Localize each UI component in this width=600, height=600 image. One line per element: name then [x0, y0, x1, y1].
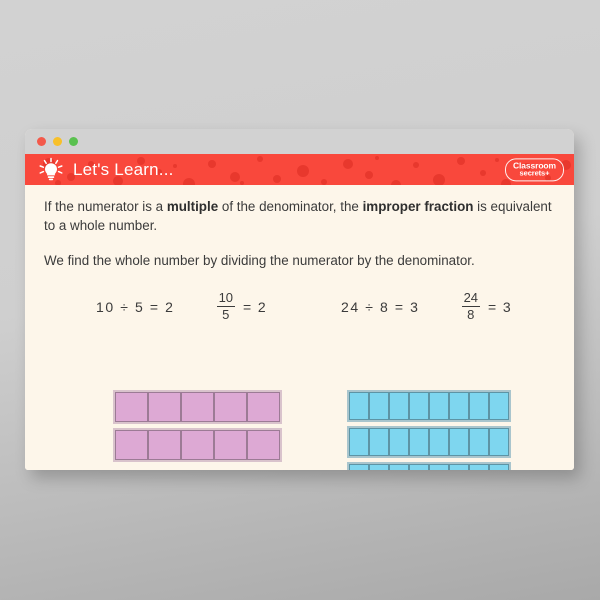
banner-decorative-dot: [183, 178, 195, 185]
bar-model-cell: [369, 428, 389, 456]
bar-model-cell: [181, 392, 214, 422]
bar-model-cell: [115, 392, 148, 422]
bar-model-cell: [389, 428, 409, 456]
banner-decorative-dot: [365, 171, 373, 179]
right-division-equation: 24 ÷ 8 = 3: [341, 299, 420, 315]
explanation-paragraph-2: We find the whole number by dividing the…: [44, 252, 552, 271]
bar-model-cell: [469, 428, 489, 456]
banner-decorative-dot: [208, 160, 216, 168]
equations-row: 10 ÷ 5 = 2 10 5 = 2 24 ÷ 8 = 3 24: [44, 291, 552, 335]
left-division-equation: 10 ÷ 5 = 2: [96, 299, 175, 315]
bar-model-cell: [429, 392, 449, 420]
slide-content: If the numerator is a multiple of the de…: [25, 185, 574, 470]
right-fraction-numerator: 24: [462, 291, 480, 306]
bar-model-cell: [247, 392, 280, 422]
paragraph1-part2: of the denominator, the: [218, 199, 362, 214]
banner-decorative-dot: [457, 157, 465, 165]
left-fraction-numerator: 10: [217, 291, 235, 306]
bar-model-cell: [148, 392, 181, 422]
right-fraction: 24 8: [462, 291, 480, 323]
left-example-equations: 10 ÷ 5 = 2 10 5 = 2: [96, 291, 267, 323]
logo-line-2: secrets+: [513, 170, 556, 178]
bar-model-cell: [349, 428, 369, 456]
bar-model-cell: [369, 392, 389, 420]
banner-decorative-dot: [480, 170, 486, 176]
right-fraction-equation: 24 8 = 3: [462, 291, 513, 323]
bar-model-cell: [389, 392, 409, 420]
paragraph1-part1: If the numerator is a: [44, 199, 167, 214]
bar-model-cell: [409, 428, 429, 456]
bar-model-cell: [349, 392, 369, 420]
banner-title: Let's Learn...: [73, 160, 174, 180]
bar-model-cell: [489, 464, 509, 470]
banner-decorative-dot: [297, 165, 309, 177]
explanation-paragraph-1: If the numerator is a multiple of the de…: [44, 198, 552, 235]
right-fraction-result: = 3: [488, 299, 512, 315]
left-fraction-result: = 2: [243, 299, 267, 315]
right-example-equations: 24 ÷ 8 = 3 24 8 = 3: [341, 291, 512, 323]
bar-model-row: [113, 390, 282, 424]
left-fraction-denominator: 5: [220, 308, 231, 323]
bar-model-cell: [489, 392, 509, 420]
bar-model-cell: [181, 430, 214, 460]
bar-model-cell: [489, 428, 509, 456]
bar-model-row: [347, 462, 511, 470]
bar-model-cell: [214, 430, 247, 460]
bar-model-cell: [469, 464, 489, 470]
bar-model-cell: [214, 392, 247, 422]
paragraph1-bold-multiple: multiple: [167, 199, 218, 214]
banner-decorative-dot: [343, 159, 353, 169]
banner-decorative-dot: [273, 175, 281, 183]
bar-model-row: [113, 428, 282, 462]
bar-model-cell: [469, 392, 489, 420]
banner-decorative-dot: [375, 156, 379, 160]
left-fraction: 10 5: [217, 291, 235, 323]
banner-decorative-dot: [433, 174, 445, 185]
bar-model-cell: [449, 392, 469, 420]
bar-model-cell: [449, 464, 469, 470]
window-title-bar: [25, 129, 574, 154]
bar-model-row: [347, 390, 511, 422]
slide-window: Let's Learn... Classroom secrets+ If the…: [25, 129, 574, 470]
bar-model-cell: [409, 392, 429, 420]
bar-model-cell: [429, 464, 449, 470]
maximize-button[interactable]: [69, 137, 78, 146]
bar-model-cell: [247, 430, 280, 460]
bar-model-cell: [409, 464, 429, 470]
bar-model-row: [347, 426, 511, 458]
pink-fraction-bar-model: [113, 390, 282, 466]
banner-decorative-dot: [230, 172, 240, 182]
bar-model-cell: [389, 464, 409, 470]
bar-model-cell: [349, 464, 369, 470]
bar-model-cell: [369, 464, 389, 470]
classroom-secrets-logo: Classroom secrets+: [505, 158, 564, 181]
banner-decorative-dot: [257, 156, 263, 162]
right-fraction-denominator: 8: [465, 308, 476, 323]
bar-model-cell: [429, 428, 449, 456]
banner-decorative-dot: [413, 162, 419, 168]
minimize-button[interactable]: [53, 137, 62, 146]
bar-model-cell: [148, 430, 181, 460]
lets-learn-banner: Let's Learn... Classroom secrets+: [25, 154, 574, 185]
close-button[interactable]: [37, 137, 46, 146]
blue-fraction-bar-model: [347, 390, 511, 470]
bar-model-cell: [449, 428, 469, 456]
banner-decorative-dot: [495, 158, 499, 162]
left-fraction-equation: 10 5 = 2: [217, 291, 268, 323]
banner-decorative-dot: [173, 164, 177, 168]
bar-model-cell: [115, 430, 148, 460]
paragraph1-bold-improper-fraction: improper fraction: [363, 199, 474, 214]
lightbulb-icon: [36, 157, 66, 183]
